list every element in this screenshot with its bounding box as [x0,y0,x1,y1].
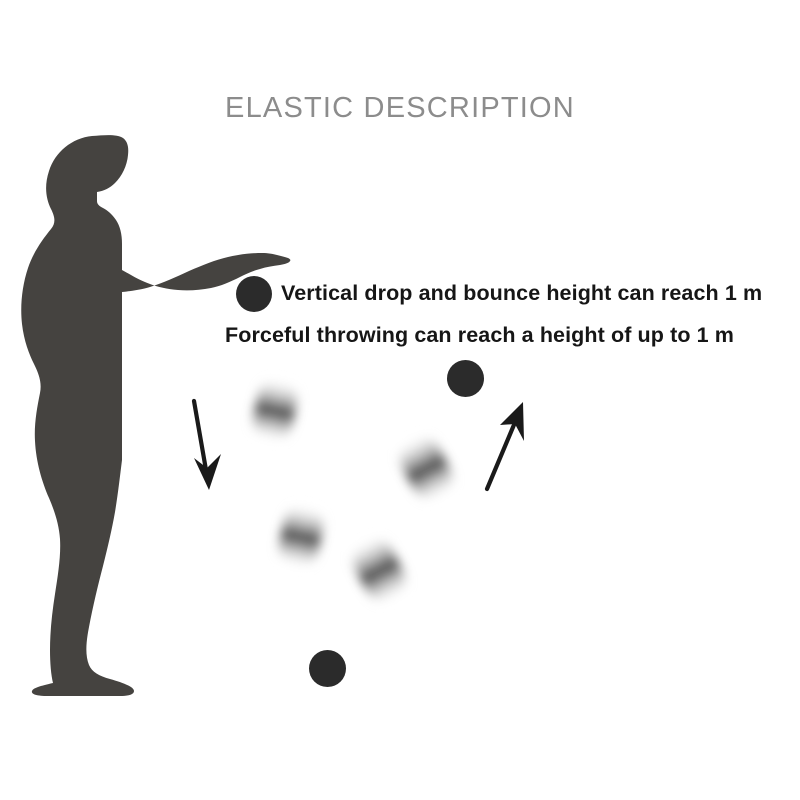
ball-at-apex [447,360,484,397]
illustration-canvas: ELASTIC DESCRIPTION [0,0,800,800]
caption-forceful-throw: Forceful throwing can reach a height of … [225,323,734,348]
arrow-up-icon [487,402,524,489]
motion-blur-ball-falling-1 [249,376,301,445]
motion-blur-ball-rising-1 [345,531,413,609]
artwork-svg [0,0,800,800]
caption-vertical-drop: Vertical drop and bounce height can reac… [281,281,762,306]
arrow-down-icon [194,401,221,490]
person-silhouette [21,135,290,696]
ball-at-hand [236,276,272,312]
motion-blur-ball-falling-2 [275,502,327,571]
ball-at-floor [309,650,346,687]
motion-blur-ball-rising-2 [392,429,460,507]
